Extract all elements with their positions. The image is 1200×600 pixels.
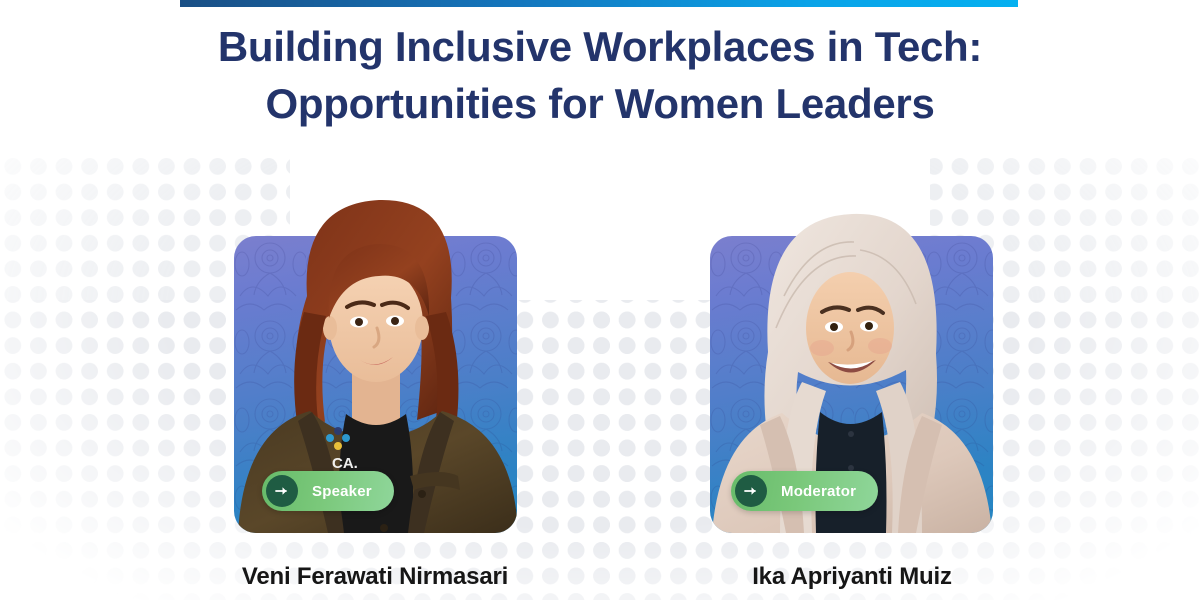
page-title: Building Inclusive Workplaces in Tech: O… [0,18,1200,132]
moderator-role-label: Moderator [781,483,856,500]
top-accent-bar [180,0,1018,7]
moderator-name: Ika Apriyanti Muiz [672,563,1032,591]
event-speaker-banner: Building Inclusive Workplaces in Tech: O… [0,0,1200,600]
speaker-role-badge[interactable]: Speaker [262,471,394,511]
arrow-right-icon [735,475,767,507]
arrow-right-icon [266,475,298,507]
moderator-role-badge[interactable]: Moderator [731,471,878,511]
speaker-name: Veni Ferawati Nirmasari [195,563,555,591]
title-line-1: Building Inclusive Workplaces in Tech: [0,18,1200,75]
speaker-role-label: Speaker [312,483,372,500]
title-line-2: Opportunities for Women Leaders [0,75,1200,132]
